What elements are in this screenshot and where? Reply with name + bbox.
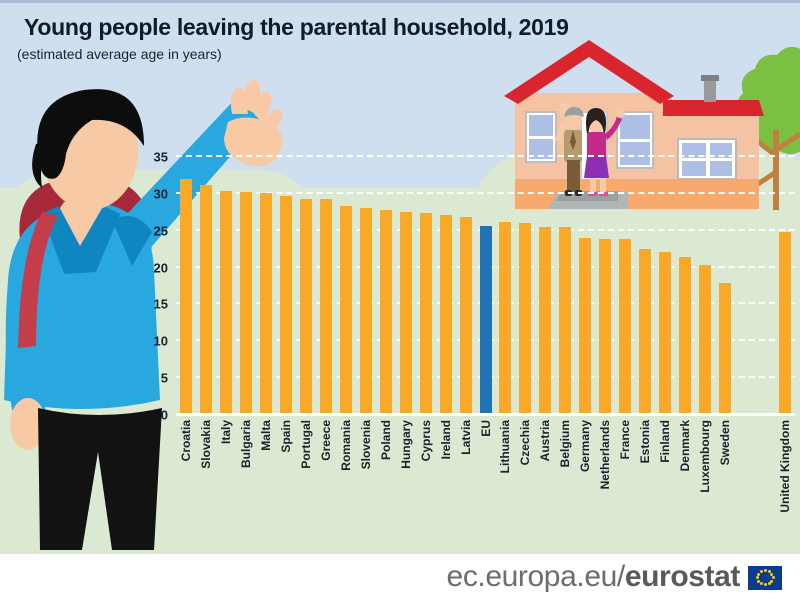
x-axis-label-sweden: Sweden (718, 420, 732, 465)
y-tick-label-35: 35 (154, 150, 168, 165)
y-tick-label-15: 15 (154, 297, 168, 312)
bar-rect (280, 196, 292, 413)
x-axis-label-luxembourg: Luxembourg (698, 420, 712, 493)
bar-EU[interactable] (476, 155, 496, 413)
x-label-slot: Sweden (715, 418, 735, 548)
bar-rect (579, 238, 591, 413)
x-label-slot: Austria (535, 418, 555, 548)
x-label-slot: Belgium (555, 418, 575, 548)
x-label-slot: Portugal (296, 418, 316, 548)
y-tick-label-30: 30 (154, 186, 168, 201)
bar-Ireland[interactable] (436, 155, 456, 413)
bar-Czechia[interactable] (515, 155, 535, 413)
bar-rect (639, 249, 651, 413)
x-label-slot: Cyprus (416, 418, 436, 548)
x-axis-label-slovenia: Slovenia (359, 420, 373, 469)
bar-Latvia[interactable] (456, 155, 476, 413)
x-axis-label-united-kingdom: United Kingdom (778, 420, 792, 513)
x-label-slot: EU (476, 418, 496, 548)
x-axis-label-poland: Poland (379, 420, 393, 460)
bar-spacer (735, 155, 755, 413)
bar-chart: 05101520253035 CroatiaSlovakiaItalyBulga… (150, 150, 795, 420)
bar-series (176, 155, 795, 413)
bar-rect (699, 265, 711, 413)
x-axis-label-greece: Greece (319, 420, 333, 461)
x-label-slot: Latvia (456, 418, 476, 548)
x-axis-label-cyprus: Cyprus (419, 420, 433, 461)
eu-star (760, 582, 763, 585)
x-axis-label-netherlands: Netherlands (598, 420, 612, 489)
x-label-slot: Bulgaria (236, 418, 256, 548)
page-title: Young people leaving the parental househ… (24, 14, 569, 41)
bar-rect (300, 199, 312, 413)
x-label-slot: Spain (276, 418, 296, 548)
y-tick-label-20: 20 (154, 260, 168, 275)
x-label-slot: Slovakia (196, 418, 216, 548)
eu-star (772, 576, 775, 579)
eu-star (756, 576, 759, 579)
x-axis-line (176, 413, 795, 416)
bar-Hungary[interactable] (396, 155, 416, 413)
x-axis-label-denmark: Denmark (678, 420, 692, 471)
bar-Estonia[interactable] (635, 155, 655, 413)
bar-rect (240, 192, 252, 413)
plot-area: 05101520253035 (176, 155, 795, 413)
x-label-slot: Germany (575, 418, 595, 548)
infographic-root: Young people leaving the parental househ… (0, 0, 800, 599)
x-label-slot: Greece (316, 418, 336, 548)
x-label-slot: Slovenia (356, 418, 376, 548)
x-axis-label-bulgaria: Bulgaria (239, 420, 253, 468)
bar-Germany[interactable] (575, 155, 595, 413)
eu-flag-icon (748, 566, 782, 590)
y-tick-label-0: 0 (161, 408, 168, 423)
x-label-slot: Hungary (396, 418, 416, 548)
x-axis-label-lithuania: Lithuania (498, 420, 512, 473)
bar-Croatia[interactable] (176, 155, 196, 413)
bar-Bulgaria[interactable] (236, 155, 256, 413)
x-axis-label-spain: Spain (279, 420, 293, 453)
bar-Slovakia[interactable] (196, 155, 216, 413)
x-label-slot: United Kingdom (775, 418, 795, 548)
x-axis-label-france: France (618, 420, 632, 459)
x-axis-label-romania: Romania (339, 420, 353, 471)
bar-rect (659, 252, 671, 413)
bar-rect (360, 208, 372, 413)
x-axis-label-ireland: Ireland (439, 420, 453, 459)
bar-Sweden[interactable] (715, 155, 735, 413)
eu-star (770, 580, 773, 583)
eu-star (757, 573, 760, 576)
x-label-slot: Lithuania (496, 418, 516, 548)
x-axis-label-slovakia: Slovakia (199, 420, 213, 469)
bar-Denmark[interactable] (675, 155, 695, 413)
x-axis-label-austria: Austria (538, 420, 552, 461)
bar-Slovenia[interactable] (356, 155, 376, 413)
bar-Spain[interactable] (276, 155, 296, 413)
x-axis-label-italy: Italy (219, 420, 233, 444)
x-axis-label-malta: Malta (259, 420, 273, 451)
eurostat-url[interactable]: ec.europa.eu/eurostat (447, 560, 782, 594)
bar-rect (380, 210, 392, 413)
bar-rect (180, 179, 192, 413)
bar-Portugal[interactable] (296, 155, 316, 413)
y-tick-label-25: 25 (154, 223, 168, 238)
bar-rect (679, 257, 691, 413)
y-tick-label-5: 5 (161, 371, 168, 386)
bar-rect (440, 215, 452, 413)
bar-rect (559, 227, 571, 413)
x-label-slot: Croatia (176, 418, 196, 548)
top-border (0, 0, 800, 3)
eu-star (760, 570, 763, 573)
bar-rect (420, 213, 432, 413)
x-label-slot: Romania (336, 418, 356, 548)
x-label-slot: Denmark (675, 418, 695, 548)
x-axis-label-finland: Finland (658, 420, 672, 463)
bar-spacer (755, 155, 775, 413)
bar-Austria[interactable] (535, 155, 555, 413)
page-subtitle: (estimated average age in years) (17, 46, 222, 62)
x-axis-label-czechia: Czechia (518, 420, 532, 465)
bar-rect (599, 239, 611, 413)
footer-bar: ec.europa.eu/eurostat (0, 554, 800, 599)
x-label-slot: Finland (655, 418, 675, 548)
bar-Lithuania[interactable] (496, 155, 516, 413)
x-label-slot: Italy (216, 418, 236, 548)
x-label-slot (755, 418, 775, 548)
y-tick-label-10: 10 (154, 334, 168, 349)
x-axis-label-hungary: Hungary (399, 420, 413, 469)
eu-star (768, 582, 771, 585)
bar-Romania[interactable] (336, 155, 356, 413)
x-label-slot: France (615, 418, 635, 548)
bar-rect (220, 191, 232, 413)
bar-rect (480, 226, 492, 413)
eu-star (764, 583, 767, 586)
x-axis-labels: CroatiaSlovakiaItalyBulgariaMaltaSpainPo… (176, 418, 795, 548)
bar-rect (400, 212, 412, 413)
x-axis-label-latvia: Latvia (459, 420, 473, 455)
bar-rect (539, 227, 551, 413)
bar-rect (779, 232, 791, 413)
bar-rect (260, 193, 272, 413)
x-axis-label-estonia: Estonia (638, 420, 652, 463)
bar-rect (619, 239, 631, 413)
x-axis-label-germany: Germany (578, 420, 592, 472)
x-axis-label-croatia: Croatia (179, 420, 193, 461)
bar-France[interactable] (615, 155, 635, 413)
url-bold-part: eurostat (625, 560, 740, 593)
bar-Finland[interactable] (655, 155, 675, 413)
bar-rect (460, 217, 472, 413)
bar-rect (200, 185, 212, 413)
bar-Luxembourg[interactable] (695, 155, 715, 413)
url-plain-part: ec.europa.eu/ (447, 560, 625, 593)
bar-rect (340, 206, 352, 413)
bar-rect (519, 223, 531, 413)
bar-Netherlands[interactable] (595, 155, 615, 413)
bar-Cyprus[interactable] (416, 155, 436, 413)
bar-United Kingdom[interactable] (775, 155, 795, 413)
x-label-slot: Poland (376, 418, 396, 548)
eu-star (757, 580, 760, 583)
x-axis-label-eu: EU (479, 420, 493, 437)
x-label-slot: Czechia (515, 418, 535, 548)
eu-star (764, 569, 767, 572)
x-axis-label-belgium: Belgium (558, 420, 572, 467)
bar-Belgium[interactable] (555, 155, 575, 413)
bar-Malta[interactable] (256, 155, 276, 413)
x-label-slot: Malta (256, 418, 276, 548)
x-label-slot: Estonia (635, 418, 655, 548)
x-label-slot: Netherlands (595, 418, 615, 548)
bar-Greece[interactable] (316, 155, 336, 413)
x-label-slot: Ireland (436, 418, 456, 548)
bar-Poland[interactable] (376, 155, 396, 413)
bar-rect (320, 199, 332, 413)
bar-rect (719, 283, 731, 413)
bar-Italy[interactable] (216, 155, 236, 413)
x-label-slot (735, 418, 755, 548)
x-axis-label-portugal: Portugal (299, 420, 313, 469)
bar-rect (499, 222, 511, 413)
x-label-slot: Luxembourg (695, 418, 715, 548)
